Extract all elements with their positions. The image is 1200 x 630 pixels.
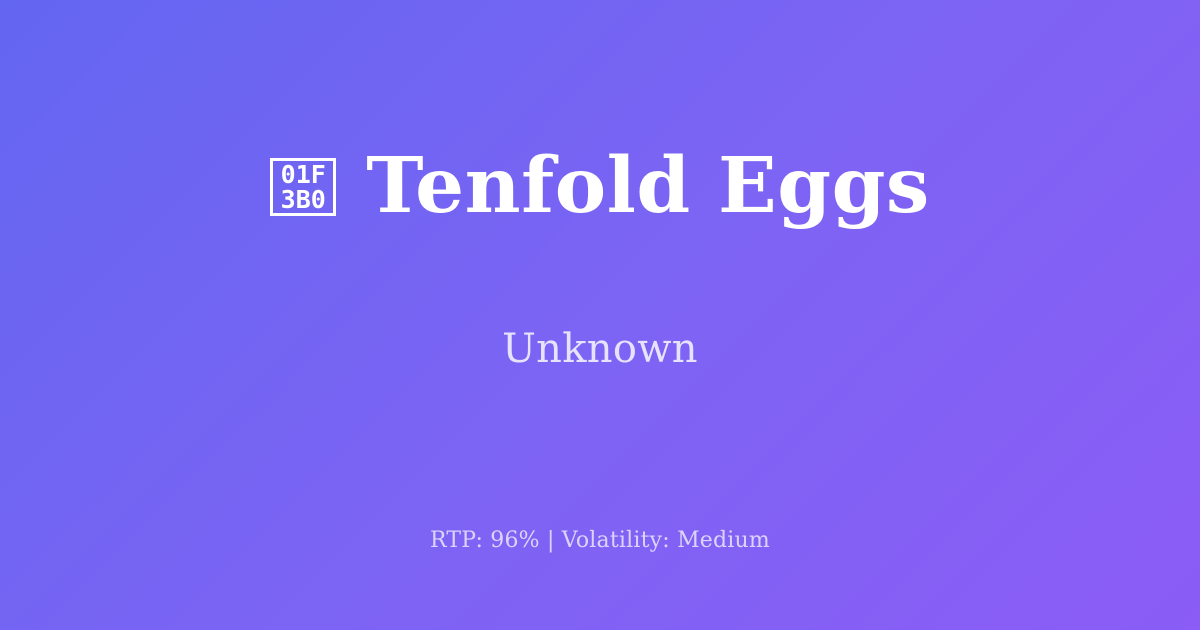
game-subtitle: Unknown [502, 326, 698, 372]
game-title: Tenfold Eggs [366, 146, 930, 227]
tofu-codepoint-top: 01F [281, 162, 326, 187]
title-row: 01F 3B0 Tenfold Eggs [270, 94, 930, 278]
slot-machine-emoji-tofu-icon: 01F 3B0 [270, 158, 336, 216]
hero-block: 01F 3B0 Tenfold Eggs Unknown [0, 0, 1200, 470]
tofu-codepoint-bottom: 3B0 [281, 187, 326, 212]
og-share-card: 01F 3B0 Tenfold Eggs Unknown RTP: 96% | … [0, 0, 1200, 630]
meta-row: RTP: 96% | Volatility: Medium [0, 528, 1200, 553]
game-meta-text: RTP: 96% | Volatility: Medium [430, 528, 770, 553]
